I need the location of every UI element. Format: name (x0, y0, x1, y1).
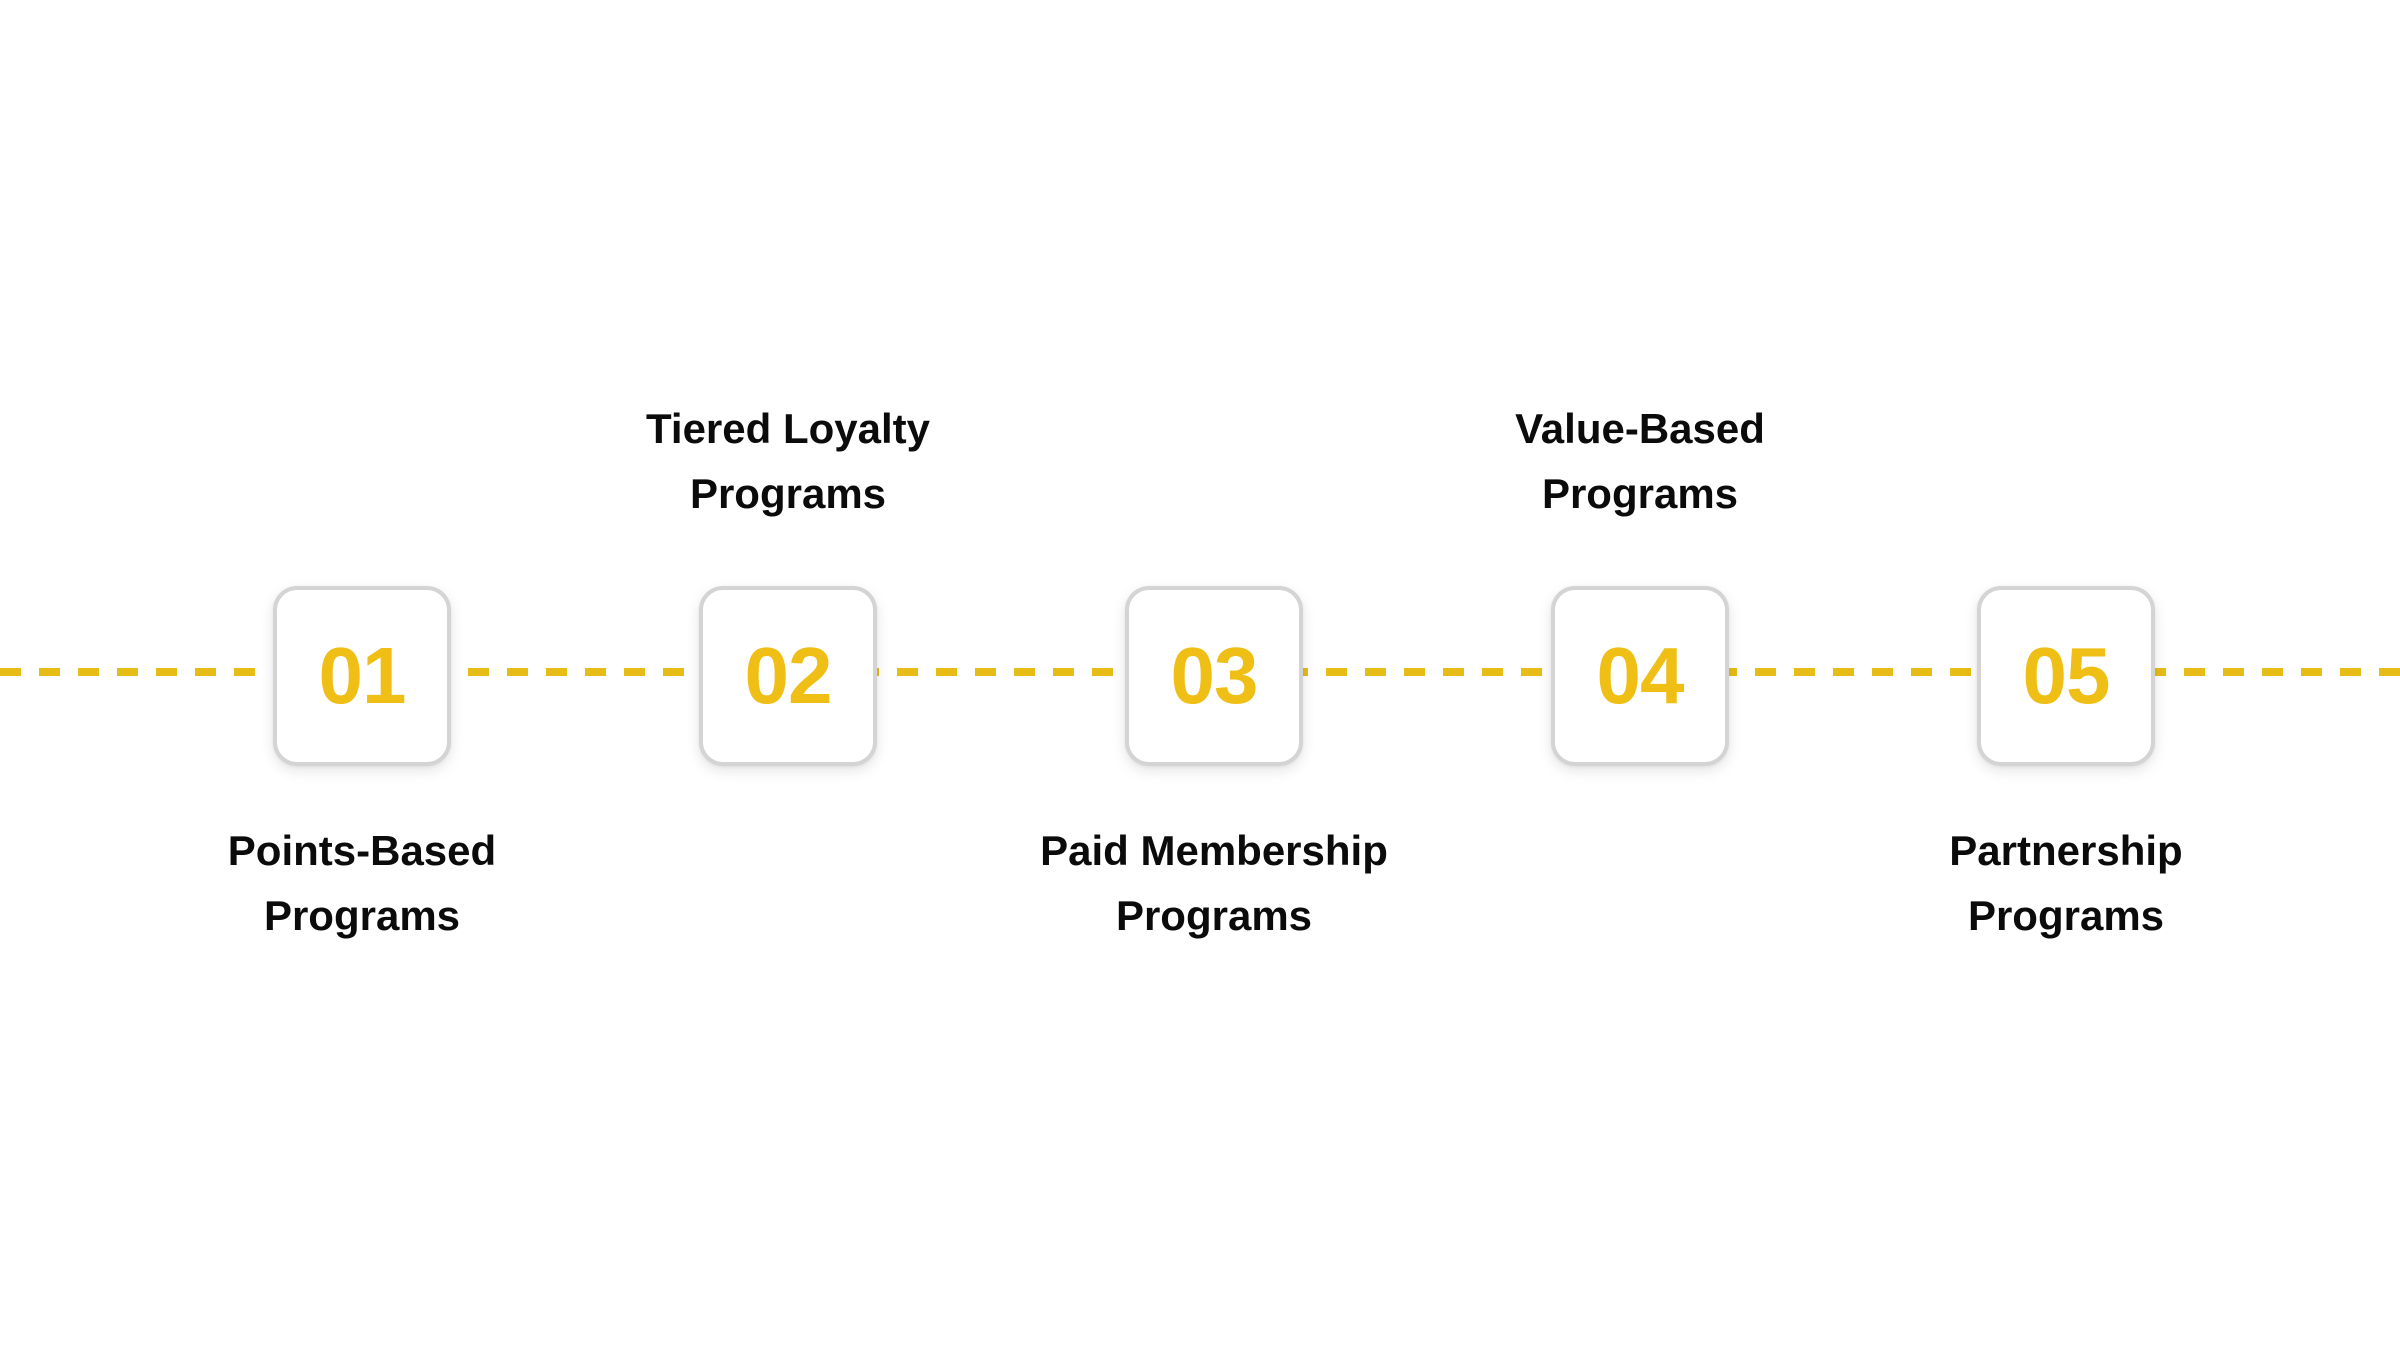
step-label-line2: Programs (984, 883, 1444, 948)
step-label-line1: Tiered Loyalty (558, 396, 1018, 461)
step-number-1: 01 (319, 636, 406, 716)
step-card-4[interactable]: 04 (1551, 586, 1729, 766)
step-number-3: 03 (1171, 636, 1258, 716)
step-1[interactable]: 01 (273, 586, 451, 766)
step-2[interactable]: 02 (699, 586, 877, 766)
step-label-line2: Programs (558, 461, 1018, 526)
step-number-5: 05 (2023, 636, 2110, 716)
step-5[interactable]: 05 (1977, 586, 2155, 766)
timeline-diagram: Tiered Loyalty Programs Value-Based Prog… (0, 0, 2400, 1350)
step-card-row: 01 02 03 04 05 (0, 586, 2400, 766)
step-card-2[interactable]: 02 (699, 586, 877, 766)
step-card-1[interactable]: 01 (273, 586, 451, 766)
step-label-below-1: Points-Based Programs (132, 818, 592, 948)
step-card-5[interactable]: 05 (1977, 586, 2155, 766)
step-label-line1: Points-Based (132, 818, 592, 883)
step-label-line2: Programs (1410, 461, 1870, 526)
step-label-line2: Programs (132, 883, 592, 948)
step-number-4: 04 (1597, 636, 1684, 716)
step-label-line1: Paid Membership (984, 818, 1444, 883)
step-label-below-3: Paid Membership Programs (984, 818, 1444, 948)
step-number-2: 02 (745, 636, 832, 716)
step-card-3[interactable]: 03 (1125, 586, 1303, 766)
step-label-above-2: Tiered Loyalty Programs (558, 396, 1018, 526)
step-4[interactable]: 04 (1551, 586, 1729, 766)
step-label-line2: Programs (1836, 883, 2296, 948)
step-label-line1: Partnership (1836, 818, 2296, 883)
step-label-above-4: Value-Based Programs (1410, 396, 1870, 526)
step-3[interactable]: 03 (1125, 586, 1303, 766)
step-label-below-5: Partnership Programs (1836, 818, 2296, 948)
step-label-line1: Value-Based (1410, 396, 1870, 461)
